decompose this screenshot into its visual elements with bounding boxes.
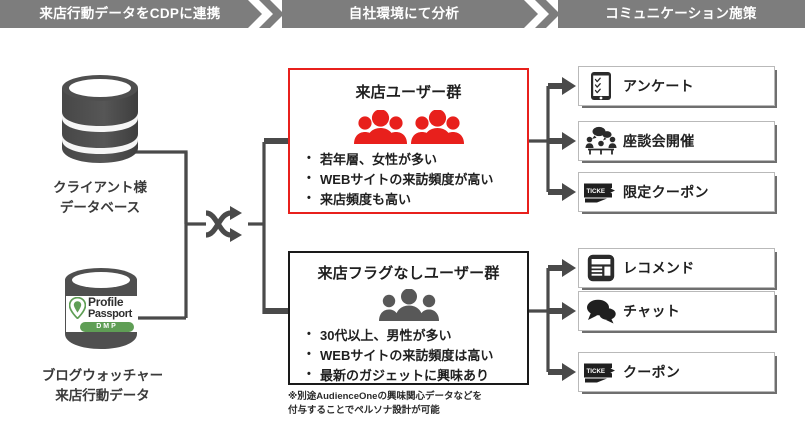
phase-chevron-notch-1: [248, 0, 282, 28]
phase-label-2: 自社環境にて分析: [288, 0, 520, 28]
blogwatcher-database-label: ブログウォッチャー 来店行動データ: [0, 366, 205, 405]
people-group-icon: [290, 289, 527, 321]
blogwatcher-database-label-line1: ブログウォッチャー: [0, 366, 205, 386]
action-box-chat[interactable]: チャット: [578, 291, 775, 331]
segment-bullet: 30代以上、男性が多い: [304, 326, 527, 346]
footnote-line1: ※別途AudienceOneの興味関心データなどを: [288, 390, 482, 404]
footnote-line2: 付与することでペルソナ設計が可能: [288, 404, 482, 418]
phase-label-3: コミュニケーション施策: [562, 0, 800, 28]
client-database-label-line1: クライアント様: [10, 178, 190, 198]
location-pin-icon: [69, 297, 86, 319]
segment-bullet: 若年層、女性が多い: [304, 150, 527, 170]
database-cylinder-icon: [50, 68, 150, 168]
action-label-chat: チャット: [623, 301, 680, 321]
segment-bullet: 最新のガジェットに興味あり: [304, 366, 527, 386]
blogwatcher-database-label-line2: 来店行動データ: [0, 386, 205, 406]
phase-chevron-notch-2: [524, 0, 558, 28]
action-box-limited-coupon[interactable]: TICKET 限定クーポン: [578, 172, 775, 212]
segment-bullets-visited-users: 若年層、女性が多い WEBサイトの来訪頻度が高い 来店頻度も高い: [304, 150, 527, 210]
smartphone-survey-icon: [579, 71, 623, 101]
profile-passport-title-line2: Passport: [88, 309, 132, 320]
action-label-coupon: クーポン: [623, 362, 680, 382]
profile-passport-dmp-badge: DMP: [80, 322, 134, 332]
segment-bullets-no-visit-flag-users: 30代以上、男性が多い WEBサイトの来訪頻度は高い 最新のガジェットに興味あり: [304, 326, 527, 386]
footnote: ※別途AudienceOneの興味関心データなどを 付与することでペルソナ設計が…: [288, 390, 482, 419]
shuffle-icon: [204, 204, 250, 244]
action-box-recommend[interactable]: レコメンド: [578, 248, 775, 288]
action-label-survey: アンケート: [623, 76, 694, 96]
action-label-limited-coupon: 限定クーポン: [623, 182, 709, 202]
segment-title-visited-users: 来店ユーザー群: [290, 81, 527, 102]
segment-bullet: WEBサイトの来訪頻度が高い: [304, 170, 527, 190]
action-box-coupon[interactable]: TICKET クーポン: [578, 352, 775, 392]
phase-label-1: 来店行動データをCDPに連携: [10, 0, 250, 28]
article-layout-icon: [579, 254, 623, 282]
profile-passport-title-line1: Profile: [88, 296, 132, 308]
segment-bullet: WEBサイトの来訪頻度は高い: [304, 346, 527, 366]
profile-passport-logo: Profile Passport DMP: [66, 296, 138, 332]
people-group-icon: [290, 110, 527, 144]
ticket-icon: TICKET: [579, 180, 623, 204]
ticket-icon: TICKET: [579, 360, 623, 384]
action-box-roundtable[interactable]: 座談会開催: [578, 121, 775, 161]
segment-box-no-visit-flag-users: 来店フラグなしユーザー群 30代以上、男性が多い WEBサイトの来訪頻度は高い …: [288, 251, 529, 385]
roundtable-discussion-icon: [579, 126, 623, 156]
client-database-label-line2: データベース: [10, 198, 190, 218]
segment-title-no-visit-flag-users: 来店フラグなしユーザー群: [290, 262, 527, 283]
action-label-recommend: レコメンド: [623, 258, 695, 278]
action-label-roundtable: 座談会開催: [623, 131, 695, 151]
client-database-label: クライアント様 データベース: [10, 178, 190, 217]
chat-bubbles-icon: [579, 298, 623, 324]
action-box-survey[interactable]: アンケート: [578, 66, 775, 106]
segment-box-visited-users: 来店ユーザー群: [288, 68, 529, 214]
segment-bullet: 来店頻度も高い: [304, 190, 527, 210]
diagram-canvas: 来店行動データをCDPに連携 自社環境にて分析 コミュニケーション施策: [0, 0, 805, 426]
